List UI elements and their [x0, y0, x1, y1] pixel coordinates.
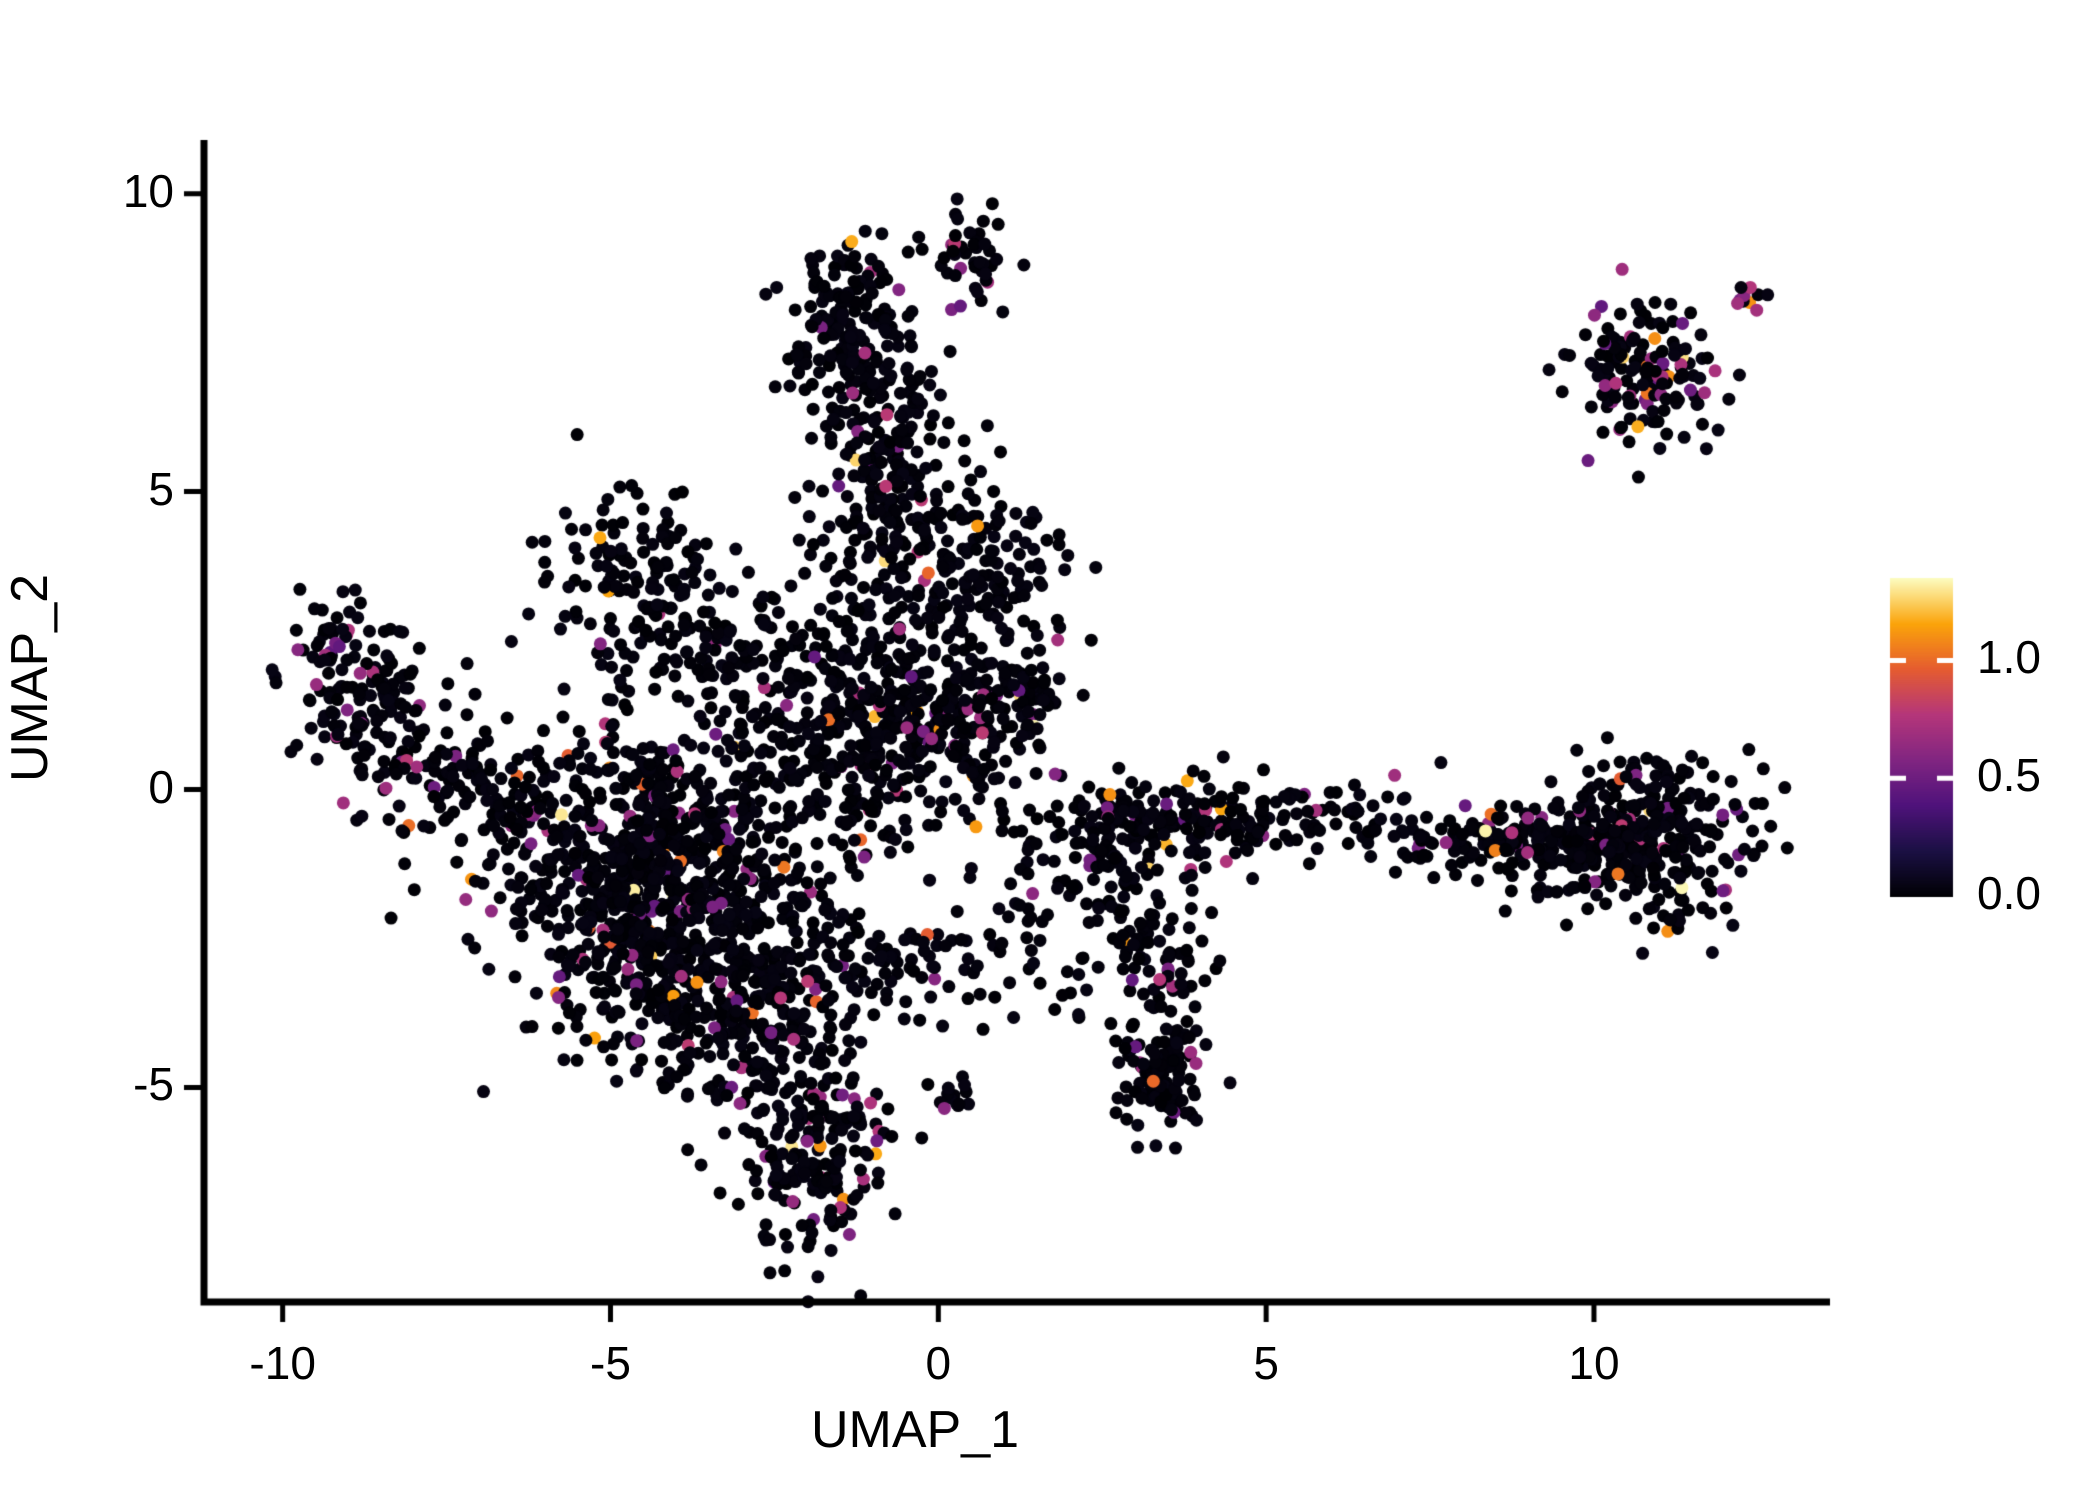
umap-feature-plot: EIF1AD UMAP_1 UMAP_2 -10-50510 -50510 0.…: [0, 0, 2100, 1500]
y-tick-label: 0: [0, 760, 174, 814]
x-axis-label: UMAP_1: [0, 1400, 1830, 1460]
y-tick-label: 5: [0, 462, 174, 516]
x-tick-label: -10: [183, 1336, 383, 1390]
scatter-plot-canvas: [0, 0, 2100, 1500]
x-tick-label: -5: [511, 1336, 711, 1390]
colorbar-tick-label: 0.5: [1977, 748, 2041, 802]
x-tick-label: 10: [1494, 1336, 1694, 1390]
x-tick-label: 5: [1166, 1336, 1366, 1390]
y-tick-label: -5: [0, 1057, 174, 1111]
colorbar-tick-label: 0.0: [1977, 866, 2041, 920]
x-tick-label: 0: [838, 1336, 1038, 1390]
y-tick-label: 10: [0, 164, 174, 218]
colorbar-tick-label: 1.0: [1977, 630, 2041, 684]
